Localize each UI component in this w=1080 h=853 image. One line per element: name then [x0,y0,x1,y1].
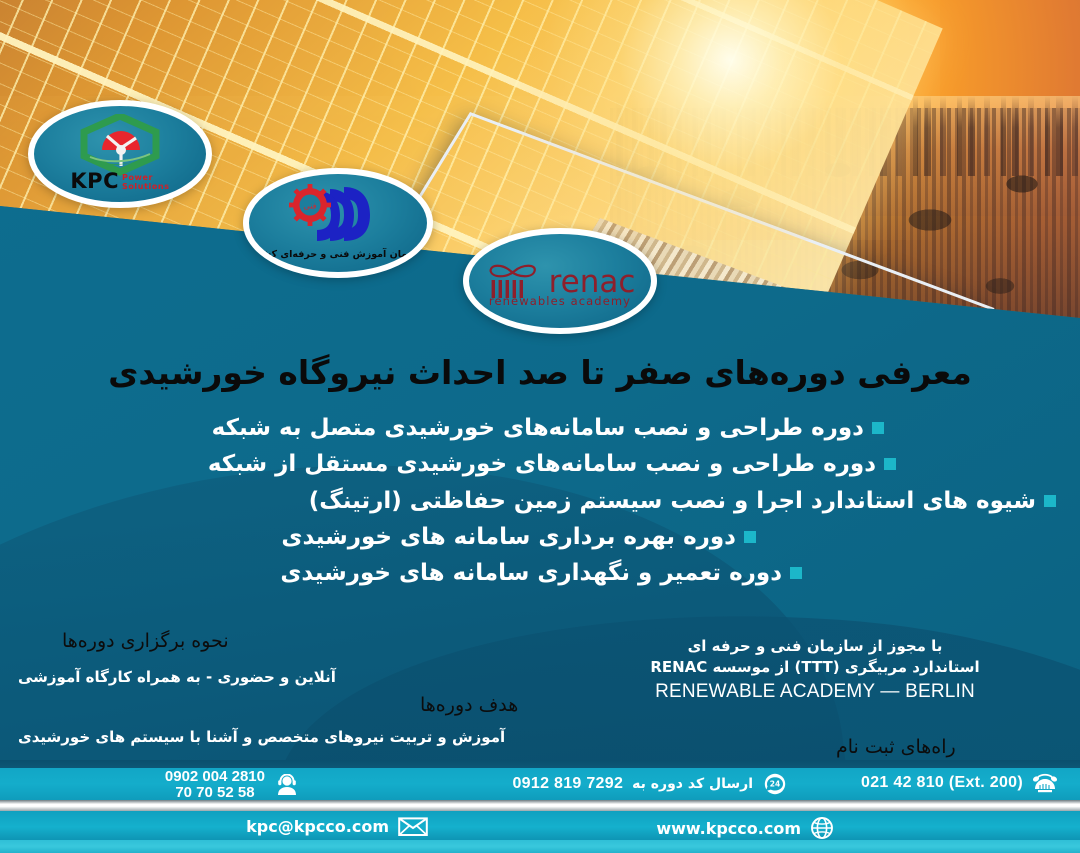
section-text-how: آنلاین و حضوری - به همراه کارگاه آموزشی [18,668,336,686]
list-item: دوره طراحی و نصب سامانه‌های خورشیدی متصل… [0,410,1080,446]
kpc-tagline: Power Solutions [122,174,170,192]
bullet-square-icon [884,458,896,470]
footer-sms-value: 0912 819 7292 [512,775,623,793]
certification-line-3: RENEWABLE ACADEMY — BERLIN [560,679,1070,706]
footer-item-website[interactable]: www.kpcco.com [656,816,834,840]
renac-name: renac [549,267,636,298]
person-headset-icon [274,774,300,796]
renac-tagline: renewables academy [489,294,631,308]
contact-footer: 021 42 810 (Ext. 200) 24 ارسال کد دوره ب… [0,760,1080,853]
logo-renac: renac renewables academy [463,228,657,334]
list-item-label: دوره طراحی و نصب سامانه‌های خورشیدی متصل… [212,410,864,446]
page-title: معرفی دوره‌های صفر تا صد احداث نیروگاه خ… [0,352,1080,393]
telephone-icon [1032,773,1058,793]
list-item: شیوه های استاندارد اجرا و نصب سیستم زمین… [0,483,1080,519]
tvto-caption: سازمان آموزش فنی و حرفه‌ای کشور [250,249,425,260]
certification-line-1: با مجوز از سازمان فنی و حرفه ای [560,636,1070,657]
certification-line-2: استاندارد مربیگری (TTT) از موسسه RENAC [560,657,1070,678]
bullet-square-icon [1044,495,1056,507]
tvto-gear-swoosh-logo-icon: فنی [286,183,390,249]
footer-band-2 [0,811,1080,840]
list-item-label: دوره تعمیر و نگهداری سامانه های خورشیدی [280,555,782,591]
footer-website-value: www.kpcco.com [656,819,801,838]
list-item-label: شیوه های استاندارد اجرا و نصب سیستم زمین… [309,483,1036,519]
footer-item-email[interactable]: kpc@kpcco.com [246,816,428,837]
envelope-icon [398,816,428,837]
footer-band-3 [0,840,1080,853]
footer-item-sms[interactable]: 24 ارسال کد دوره به 0912 819 7292 [512,773,788,795]
footer-item-phone[interactable]: 021 42 810 (Ext. 200) [861,773,1058,793]
logo-tvto: فنی سازمان آموزش فنی و حرفه‌ای کشور [243,168,433,278]
list-item-label: دوره طراحی و نصب سامانه‌های خورشیدی مستق… [208,446,876,482]
course-list: دوره طراحی و نصب سامانه‌های خورشیدی متصل… [0,410,1080,592]
section-label-register: راه‌های ثبت نام [836,736,956,758]
logo-kpc: KPC Power Solutions [28,100,212,208]
kpc-wordmark: KPC Power Solutions [70,171,169,192]
section-label-goal: هدف دوره‌ها [420,694,518,716]
footer-item-mobile[interactable]: 0902 004 2810 70 70 52 58 [165,769,300,801]
support-24-icon: 24 [762,773,788,795]
svg-text:فنی: فنی [304,202,317,211]
svg-text:24: 24 [770,779,780,788]
bullet-square-icon [790,567,802,579]
footer-divider [0,800,1080,811]
list-item-label: دوره بهره برداری سامانه های خورشیدی [281,519,736,555]
footer-mobile-value: 0902 004 2810 70 70 52 58 [165,769,265,801]
kpc-name: KPC [70,171,119,192]
section-label-how: نحوه برگزاری دوره‌ها [62,630,229,652]
section-text-goal: آموزش و تربیت نیروهای متخصص و آشنا با سی… [18,728,505,746]
footer-phone-value: 021 42 810 (Ext. 200) [861,774,1023,792]
list-item: دوره بهره برداری سامانه های خورشیدی [0,519,1080,555]
footer-top-edge [0,760,1080,768]
bullet-square-icon [744,531,756,543]
list-item: دوره طراحی و نصب سامانه‌های خورشیدی مستق… [0,446,1080,482]
bullet-square-icon [872,422,884,434]
certification-block: با مجوز از سازمان فنی و حرفه ای استاندار… [560,636,1070,706]
footer-sms-label: ارسال کد دوره به [632,776,753,792]
poster-root: KPC Power Solutions [0,0,1080,853]
list-item: دوره تعمیر و نگهداری سامانه های خورشیدی [0,555,1080,591]
globe-icon [810,816,834,840]
footer-email-value: kpc@kpcco.com [246,817,389,836]
